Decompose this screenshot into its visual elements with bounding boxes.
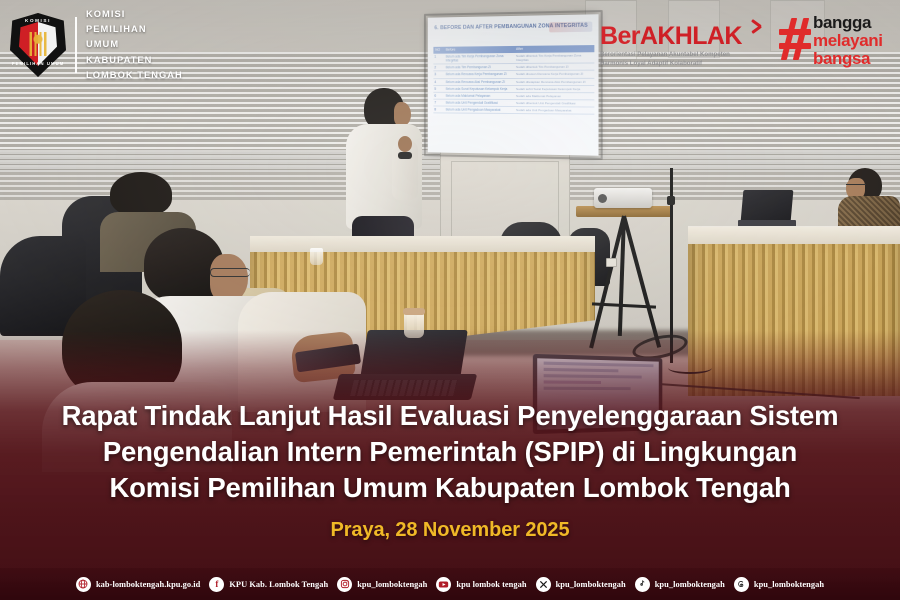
event-title: Rapat Tindak Lanjut Hasil Evaluasi Penye… xyxy=(0,398,900,505)
bangga-melayani-bangsa-logo: bangga melayani bangsa xyxy=(780,12,892,70)
berakhlak-wordmark: BerAKHLAK xyxy=(600,24,762,49)
projector-screen-frame xyxy=(424,10,603,160)
tiktok-icon xyxy=(635,577,650,592)
laptop-right xyxy=(742,190,796,230)
bangga-line-3: bangsa xyxy=(813,50,883,68)
laptop-keyboard xyxy=(350,380,458,396)
title-line-2: Pengendalian Intern Pemerintah (SPIP) di… xyxy=(0,434,900,470)
social-item-youtube[interactable]: kpu lombok tengah xyxy=(436,577,526,592)
kpu-line-3: UMUM xyxy=(86,37,183,52)
social-label-x-twitter: kpu_lomboktengah xyxy=(556,580,626,589)
table-skirt-right xyxy=(688,244,900,396)
eyeglasses xyxy=(210,268,250,277)
kpu-line-1: KOMISI xyxy=(86,7,183,22)
projector-device xyxy=(594,188,652,208)
participant-head xyxy=(110,172,172,216)
water-cup xyxy=(310,248,323,265)
kpu-logo-text: KOMISI PEMILIHAN UMUM KABUPATEN LOMBOK T… xyxy=(86,7,183,82)
social-item-threads[interactable]: kpu_lomboktengah xyxy=(734,577,824,592)
threads-icon xyxy=(734,577,749,592)
tripod-leg xyxy=(622,215,661,347)
title-line-3: Komisi Pemilihan Umum Kabupaten Lombok T… xyxy=(0,470,900,506)
berakhlak-logo: BerAKHLAK Berorientasi Pelayanan Akuntab… xyxy=(600,24,762,80)
event-date: Praya, 28 November 2025 xyxy=(0,519,900,542)
kpu-ring-top-text: KOMISI xyxy=(10,18,66,23)
youtube-icon xyxy=(436,577,451,592)
meeting-room-photo: 6. BEFORE DAN AFTER PEMBANGUNAN ZONA INT… xyxy=(0,0,900,600)
x-twitter-icon xyxy=(536,577,551,592)
event-poster: 6. BEFORE DAN AFTER PEMBANGUNAN ZONA INT… xyxy=(0,0,900,600)
bangga-line-1: bangga xyxy=(813,14,883,32)
social-label-instagram: kpu_lomboktengah xyxy=(357,580,427,589)
globe-icon xyxy=(76,577,91,592)
kpu-line-5: LOMBOK TENGAH xyxy=(86,68,183,83)
kpu-logo-lockup: KOMISI PEMILIHAN UMUM KOMISI PEMILIHAN U… xyxy=(10,10,190,80)
berakhlak-subtitle: Berorientasi Pelayanan Akuntabel Kompete… xyxy=(600,51,752,68)
stand-knob xyxy=(667,196,675,205)
kpu-ring-bottom-text: PEMILIHAN UMUM xyxy=(10,61,66,66)
social-item-x-twitter[interactable]: kpu_lomboktengah xyxy=(536,577,626,592)
bangga-wordmark: bangga melayani bangsa xyxy=(813,14,883,69)
social-label-threads: kpu_lomboktengah xyxy=(754,580,824,589)
garuda-icon xyxy=(25,32,51,56)
presenter-face xyxy=(394,102,411,126)
social-label-facebook: KPU Kab. Lombok Tengah xyxy=(229,580,328,589)
instagram-icon xyxy=(337,577,352,592)
social-media-bar: kab-lomboktengah.kpu.go.id f KPU Kab. Lo… xyxy=(0,568,900,600)
logo-divider xyxy=(75,17,77,73)
social-item-website[interactable]: kab-lomboktengah.kpu.go.id xyxy=(76,577,200,592)
bangga-line-2: melayani xyxy=(813,32,883,50)
water-cup xyxy=(404,312,424,338)
social-item-instagram[interactable]: kpu_lomboktengah xyxy=(337,577,427,592)
facebook-icon: f xyxy=(209,577,224,592)
arrow-icon xyxy=(749,19,764,34)
kpu-line-4: KABUPATEN xyxy=(86,53,183,68)
social-label-tiktok: kpu_lomboktengah xyxy=(655,580,725,589)
kpu-emblem-icon: KOMISI PEMILIHAN UMUM xyxy=(10,13,66,77)
social-label-youtube: kpu lombok tengah xyxy=(456,580,526,589)
title-line-1: Rapat Tindak Lanjut Hasil Evaluasi Penye… xyxy=(0,398,900,434)
social-item-tiktok[interactable]: kpu_lomboktengah xyxy=(635,577,725,592)
social-item-facebook[interactable]: f KPU Kab. Lombok Tengah xyxy=(209,577,328,592)
hashtag-icon xyxy=(780,18,810,60)
presenter-watch xyxy=(398,152,412,159)
eyeglasses xyxy=(846,184,866,188)
berakhlak-akhlak: AKHLAK xyxy=(640,22,742,50)
presenter-hand xyxy=(398,136,412,152)
kpu-line-2: PEMILIHAN xyxy=(86,22,183,37)
berakhlak-ber: Ber xyxy=(600,22,640,50)
social-label-website: kab-lomboktengah.kpu.go.id xyxy=(96,580,200,589)
wall-power-outlet xyxy=(606,258,617,267)
laptop-lid xyxy=(741,190,794,222)
laptop-center xyxy=(336,330,464,408)
